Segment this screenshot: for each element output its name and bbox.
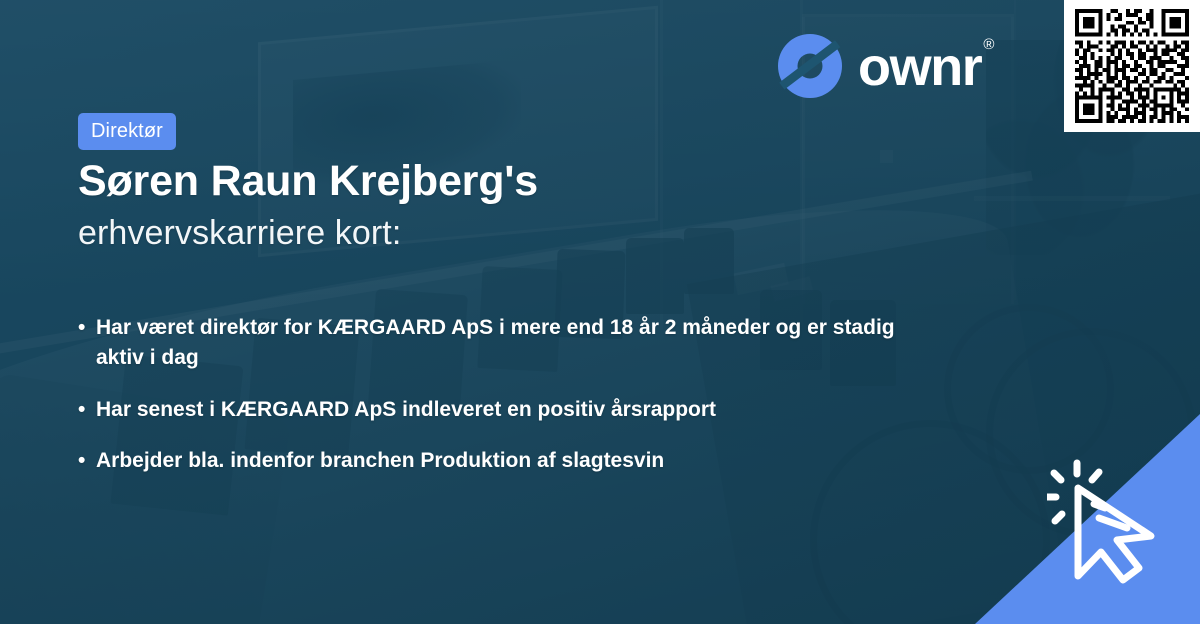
career-highlights-list: • Har været direktør for KÆRGAARD ApS i …	[78, 313, 1008, 498]
content-column: Direktør Søren Raun Krejberg's erhvervsk…	[78, 0, 1028, 624]
bullet-marker: •	[78, 446, 96, 476]
list-item: • Har senest i KÆRGAARD ApS indleveret e…	[78, 395, 1008, 425]
click-cursor-icon	[1047, 456, 1165, 584]
page-subtitle: erhvervskarriere kort:	[78, 214, 401, 253]
promo-card: ownr ®	[0, 0, 1200, 624]
page-title: Søren Raun Krejberg's	[78, 157, 538, 206]
list-item: • Arbejder bla. indenfor branchen Produk…	[78, 446, 1008, 476]
bullet-marker: •	[78, 395, 96, 425]
corner-accent	[975, 414, 1200, 624]
list-item-text: Har været direktør for KÆRGAARD ApS i me…	[96, 313, 941, 373]
list-item-text: Har senest i KÆRGAARD ApS indleveret en …	[96, 395, 956, 425]
bullet-marker: •	[78, 313, 96, 343]
role-badge: Direktør	[78, 113, 176, 150]
list-item: • Har været direktør for KÆRGAARD ApS i …	[78, 313, 1008, 373]
list-item-text: Arbejder bla. indenfor branchen Produkti…	[96, 446, 956, 476]
qr-code-icon[interactable]	[1064, 0, 1200, 132]
